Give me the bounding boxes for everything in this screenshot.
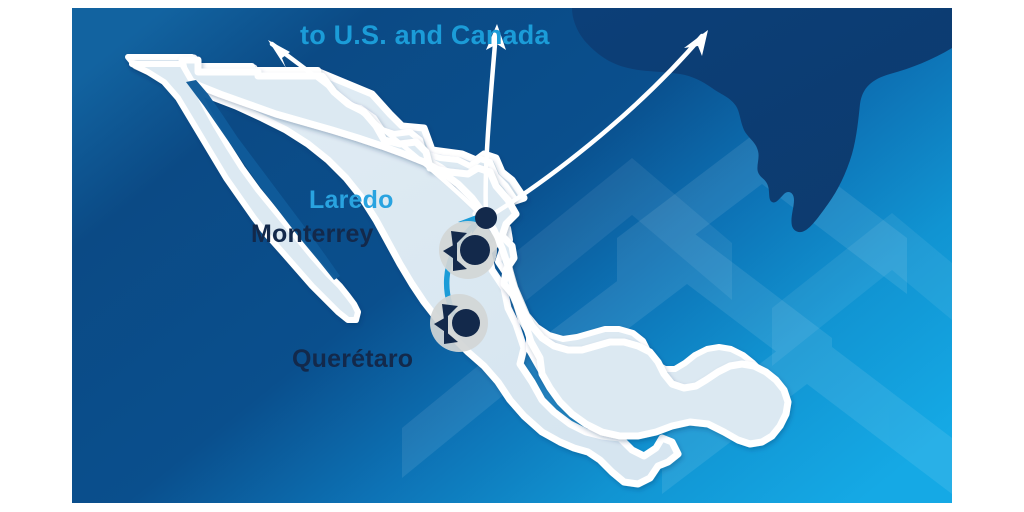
map-canvas — [72, 8, 952, 503]
queretaro-core — [452, 309, 480, 337]
map-illustration — [72, 8, 952, 503]
laredo-dot — [475, 207, 497, 229]
marker-monterrey[interactable] — [439, 221, 497, 279]
map-graphic: to U.S. and Canada Laredo Monterrey Quer… — [0, 0, 1024, 512]
marker-queretaro[interactable] — [430, 294, 488, 352]
marker-laredo[interactable] — [475, 207, 497, 229]
monterrey-core — [460, 235, 490, 265]
